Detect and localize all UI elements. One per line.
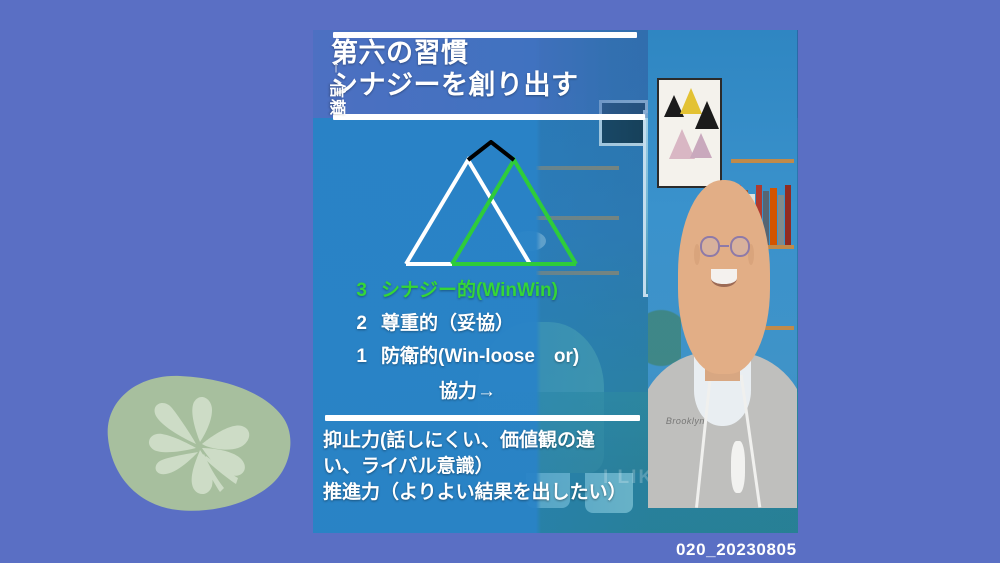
video-participant-tile[interactable]: Brooklyn (648, 30, 797, 508)
slide-title-line-2: シナジーを創り出す (331, 70, 579, 102)
level-text: 防衛的(Win-loose or) (381, 341, 579, 368)
screen-canvas: I LIKE 第六の習慣 シナジーを創り出す ↑ 信頼 (0, 0, 1000, 563)
person-head (678, 180, 770, 374)
level-number: 1 (321, 346, 367, 368)
lanyard-badge (731, 441, 744, 493)
trust-axis-label: ↑ 信頼 (323, 58, 349, 103)
glasses-bridge (720, 245, 729, 247)
bottom-text-line-2: い、ライバル意識） (323, 454, 653, 480)
participant-person: Brooklyn (648, 135, 797, 508)
bottom-text-line-3: 推進力（よりよい結果を出したい） (323, 480, 653, 506)
divider-rule-middle (333, 114, 645, 120)
sweatshirt-text: Brooklyn (666, 416, 705, 426)
level-number: 3 (321, 280, 367, 302)
level-number: 2 (321, 313, 367, 335)
white-triangle-sides (406, 160, 530, 264)
level-text: シナジー的(WinWin) (381, 275, 558, 302)
monstera-leaf-decoration (96, 368, 296, 520)
glasses-lens (700, 236, 720, 257)
bottom-text-line-1: 抑止力(話しにくい、価値観の違 (323, 428, 653, 454)
black-apex-lines (468, 142, 514, 160)
slide-title-line-1: 第六の習慣 (331, 38, 469, 68)
trust-axis-text: 信頼 (328, 82, 344, 108)
overlapping-triangles-diagram (368, 140, 598, 270)
green-triangle-sides (452, 160, 576, 264)
up-arrow-icon: ↑ (323, 58, 349, 75)
slide-caption: 020_20230805 (676, 540, 797, 560)
slide-bottom-text: 抑止力(話しにくい、価値観の違 い、ライバル意識） 推進力（よりよい結果を出した… (323, 428, 653, 507)
glasses-icon (700, 236, 750, 257)
slide-title: 第六の習慣 シナジーを創り出す (331, 38, 579, 102)
person-smile (711, 269, 737, 286)
poster-triangle (695, 101, 719, 129)
divider-rule-bottom (325, 415, 640, 421)
glasses-lens (730, 236, 750, 257)
level-text: 尊重的（妥協） (381, 308, 514, 335)
